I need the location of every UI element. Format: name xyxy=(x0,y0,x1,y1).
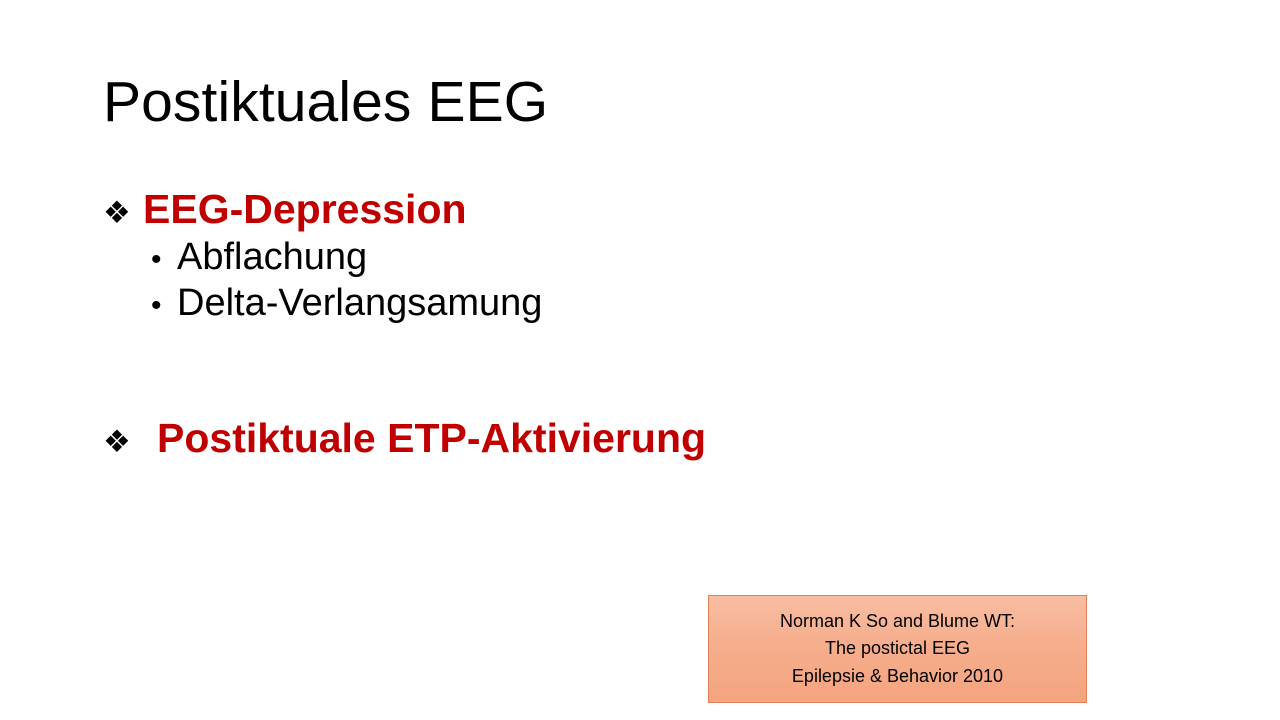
bullet-label-postiktuale-etp-aktivierung: Postiktuale ETP-Aktivierung xyxy=(143,415,706,463)
citation-source: Epilepsie & Behavior 2010 xyxy=(792,663,1003,690)
diamond-bullet-icon: ❖ xyxy=(103,426,143,457)
bullet-item-level2: • Abflachung xyxy=(151,234,1103,281)
round-bullet-icon: • xyxy=(151,245,177,275)
slide-body: ❖ EEG-Depression • Abflachung • Delta-Ve… xyxy=(103,186,1103,463)
round-bullet-icon: • xyxy=(151,291,177,321)
body-spacer xyxy=(103,327,1103,415)
bullet-item-level2: • Delta-Verlangsamung xyxy=(151,280,1103,327)
bullet-label-abflachung: Abflachung xyxy=(177,234,367,281)
bullet-label-delta-verlangsamung: Delta-Verlangsamung xyxy=(177,280,542,327)
bullet-label-eeg-depression: EEG-Depression xyxy=(143,186,467,234)
bullet-item-level1: ❖ Postiktuale ETP-Aktivierung xyxy=(103,415,1103,463)
citation-authors: Norman K So and Blume WT: xyxy=(780,608,1015,635)
page-title: Postiktuales EEG xyxy=(103,72,1183,134)
diamond-bullet-icon: ❖ xyxy=(103,197,143,228)
bullet-item-level1: ❖ EEG-Depression xyxy=(103,186,1103,234)
slide-canvas: Postiktuales EEG ❖ EEG-Depression • Abfl… xyxy=(0,0,1280,720)
citation-title: The postictal EEG xyxy=(825,635,970,662)
citation-box: Norman K So and Blume WT: The postictal … xyxy=(708,595,1087,703)
